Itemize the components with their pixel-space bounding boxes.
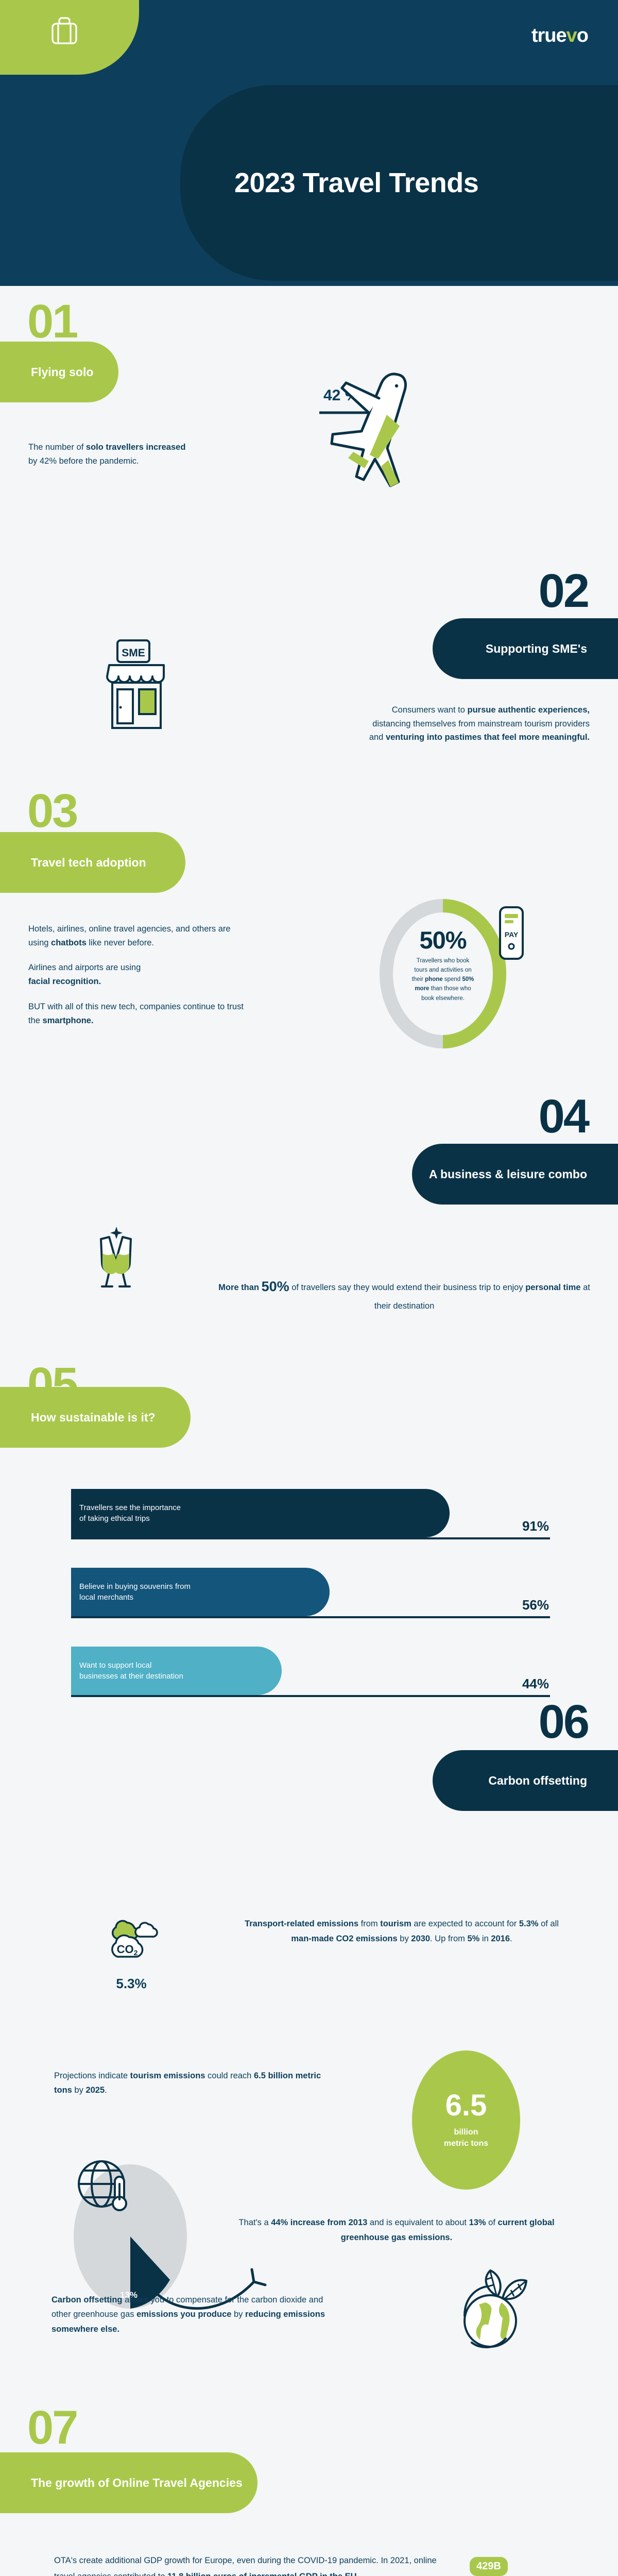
c13: 2016 (491, 1934, 510, 1943)
bu2: metric tons (444, 2139, 488, 2148)
body-line-1a: Consumers want to (392, 705, 468, 715)
section-number: 04 (539, 1097, 588, 1136)
section-body: More than 50% of travellers say they wou… (214, 1275, 595, 1313)
bar-row: Travellers see the importance of taking … (71, 1489, 550, 1539)
section-07: 07 The growth of Online Travel Agencies … (0, 2403, 618, 2576)
body-paragraph-2: Airlines and airports are using facial r… (28, 961, 245, 988)
bar-label-line1: Believe in buying souvenirs from (79, 1581, 330, 1592)
section-04: 04 A business & leisure combo More than … (0, 1077, 618, 1376)
pt4: 13% (469, 2218, 486, 2227)
pt3: and is equivalent to about (367, 2218, 469, 2227)
section-title-pill: How sustainable is it? (0, 1387, 191, 1448)
t-big-stat: 50% (262, 1279, 289, 1294)
hero-panel: 2023 Travel Trends (180, 85, 618, 281)
body-paragraph-3: BUT with all of this new tech, companies… (28, 1000, 245, 1027)
pr2: tourism emissions (130, 2071, 205, 2080)
section-title-pill: Travel tech adoption (0, 832, 185, 893)
donut-value: 50% (391, 926, 494, 954)
body-part-2: by 42% before the pandemic. (28, 456, 139, 466)
p1b: chatbots (51, 938, 87, 947)
bar-value: 56% (522, 1597, 549, 1613)
section-title: Flying solo (31, 365, 93, 379)
section-title: The growth of Online Travel Agencies (31, 2476, 243, 2490)
c1: Transport-related emissions (245, 1919, 358, 1928)
phone-pay-icon: PAY (496, 905, 528, 962)
c6: of all (539, 1919, 559, 1928)
c7: man-made CO2 emissions (291, 1934, 397, 1943)
c3: tourism (380, 1919, 411, 1928)
body-line-3a: and (369, 733, 386, 742)
champagne-glasses-icon (82, 1224, 149, 1291)
dc2: tours and activities on (414, 967, 471, 973)
p2b: facial recognition. (28, 977, 101, 986)
t-c: personal time (525, 1283, 580, 1292)
dc1: Travellers who book (417, 958, 469, 964)
body-line-3b: venturing into pastimes that feel more m… (386, 733, 590, 742)
section-title: Carbon offsetting (488, 1774, 587, 1788)
page-title: 2023 Travel Trends (234, 167, 478, 199)
dc4a: more (415, 986, 429, 992)
c10: . Up from (430, 1934, 467, 1943)
c11: 5% (467, 1934, 479, 1943)
suitcase-icon (44, 10, 84, 50)
co2-description: Transport-related emissions from tourism… (242, 1917, 561, 1946)
section-title: How sustainable is it? (31, 1411, 156, 1425)
p1c: like never before. (87, 938, 154, 947)
c9: 2030 (411, 1934, 430, 1943)
of4: by (231, 2310, 245, 2319)
bubble-unit: billion metric tons (444, 2127, 488, 2149)
pay-label: PAY (505, 930, 519, 939)
emissions-bubble: 6.5 billion metric tons (412, 2050, 520, 2190)
pr3: could reach (205, 2071, 253, 2080)
section-number: 02 (539, 572, 588, 611)
section-02: 02 Supporting SME's SME Consumers want t… (0, 528, 618, 781)
logo-text-v: v (566, 25, 577, 46)
section-01: 01 Flying solo The number of solo travel… (0, 286, 618, 528)
of1: Carbon offsetting (51, 2295, 123, 2304)
bar-value: 91% (522, 1518, 549, 1534)
t-b: of travellers say they would extend thei… (289, 1283, 526, 1292)
section-number: 03 (27, 792, 77, 831)
pr1: Projections indicate (54, 2071, 130, 2080)
dc5: book elsewhere. (421, 995, 465, 1002)
data-label-badge: 429B (470, 2557, 508, 2576)
of3: emissions you produce (136, 2310, 231, 2319)
logo-text-pre: true (531, 25, 566, 46)
ota-description: OTA's create additional GDP growth for E… (54, 2553, 445, 2576)
section-03: 03 Travel tech adoption Hotels, airlines… (0, 781, 618, 1077)
donut-caption: Travellers who book tours and activities… (391, 956, 494, 1003)
pt1: That's a (238, 2218, 271, 2227)
section-title-pill: Supporting SME's (433, 618, 618, 679)
bubble-value: 6.5 (445, 2091, 487, 2121)
bar-row: Believe in buying souvenirs from local m… (71, 1568, 550, 1618)
pr6: 2025 (85, 2086, 105, 2095)
section-title-pill: Carbon offsetting (433, 1750, 618, 1811)
offset-description: Carbon offsetting allows you to compensa… (51, 2293, 340, 2336)
body-line-1b: pursue authentic experiences, (467, 705, 590, 715)
section-title-pill: A business & leisure combo (412, 1144, 618, 1205)
dc3d: 50% (462, 976, 474, 982)
donut-chart: 50% Travellers who book tours and activi… (379, 899, 533, 1048)
c2: from (358, 1919, 380, 1928)
dc4b: than those who (429, 986, 471, 992)
pt2: 44% increase from 2013 (271, 2218, 367, 2227)
sme-label: SME (122, 647, 145, 659)
p3b: smartphone. (43, 1016, 94, 1025)
bar-track (71, 1616, 550, 1618)
earth-leaf-icon (448, 2264, 546, 2360)
section-number: 07 (27, 2409, 77, 2447)
hero-section: truevo 2023 Travel Trends (0, 0, 618, 286)
section-body: Hotels, airlines, online travel agencies… (28, 922, 245, 1039)
dc3b: phone (425, 976, 443, 982)
c12: in (479, 1934, 491, 1943)
section-title-pill: Flying solo (0, 342, 118, 402)
ota2: 11.8 billion euros of incremental GDP in… (167, 2572, 359, 2576)
c4: are expected to account for (411, 1919, 519, 1928)
bu1: billion (454, 2128, 478, 2137)
body-line-2: distancing themselves from mainstream to… (372, 719, 590, 728)
bar-label-line2: of taking ethical trips (79, 1513, 450, 1524)
section-title-pill: The growth of Online Travel Agencies (0, 2452, 257, 2513)
bar-label-line1: Want to support local (79, 1660, 282, 1671)
pr7: . (105, 2086, 107, 2095)
bar-track (71, 1537, 550, 1539)
c14: . (510, 1934, 512, 1943)
section-body: Consumers want to pursue authentic exper… (270, 703, 590, 744)
section-06: 06 Carbon offsetting CO2 5.3% Transport-… (0, 1672, 618, 2233)
body-bold: solo travellers increased (86, 443, 186, 452)
section-05: 05 How sustainable is it? Travellers see… (0, 1376, 618, 1672)
bar-fill: Believe in buying souvenirs from local m… (71, 1568, 330, 1616)
dc3a: their (412, 976, 425, 982)
section-06-offsetting: Carbon offsetting allows you to compensa… (0, 2233, 618, 2403)
pr5: by (72, 2086, 86, 2095)
projection-text: Projections indicate tourism emissions c… (54, 2069, 332, 2097)
t-a: More than (218, 1283, 261, 1292)
bar-label-line2: local merchants (79, 1592, 330, 1603)
bar-fill: Travellers see the importance of taking … (71, 1489, 450, 1537)
body-paragraph-1: Hotels, airlines, online travel agencies… (28, 922, 245, 950)
co2-value: 5.3% (95, 1976, 167, 1992)
dc3c: spend (443, 976, 462, 982)
section-number: 01 (27, 302, 77, 341)
section-title: Travel tech adoption (31, 856, 146, 870)
bar-label-line1: Travellers see the importance (79, 1502, 450, 1513)
pt5: of (486, 2218, 498, 2227)
section-title: Supporting SME's (486, 642, 587, 656)
c5: 5.3% (519, 1919, 539, 1928)
suitcase-badge (0, 0, 139, 75)
co2-cloud-icon: CO2 (100, 1914, 162, 1971)
p2a: Airlines and airports are using (28, 963, 141, 972)
section-body: The number of solo travellers increased … (28, 440, 214, 468)
infographic-page: truevo 2023 Travel Trends 01 Flying solo… (0, 0, 618, 2576)
c8: by (398, 1934, 411, 1943)
body-part-1: The number of (28, 443, 86, 452)
storefront-icon: SME (98, 636, 175, 734)
airplane-icon (319, 363, 448, 492)
globe-thermometer-icon (75, 2152, 136, 2219)
brand-logo: truevo (531, 25, 588, 47)
logo-text-post: o (577, 25, 588, 46)
section-title: A business & leisure combo (429, 1167, 587, 1181)
section-number: 06 (539, 1703, 588, 1741)
